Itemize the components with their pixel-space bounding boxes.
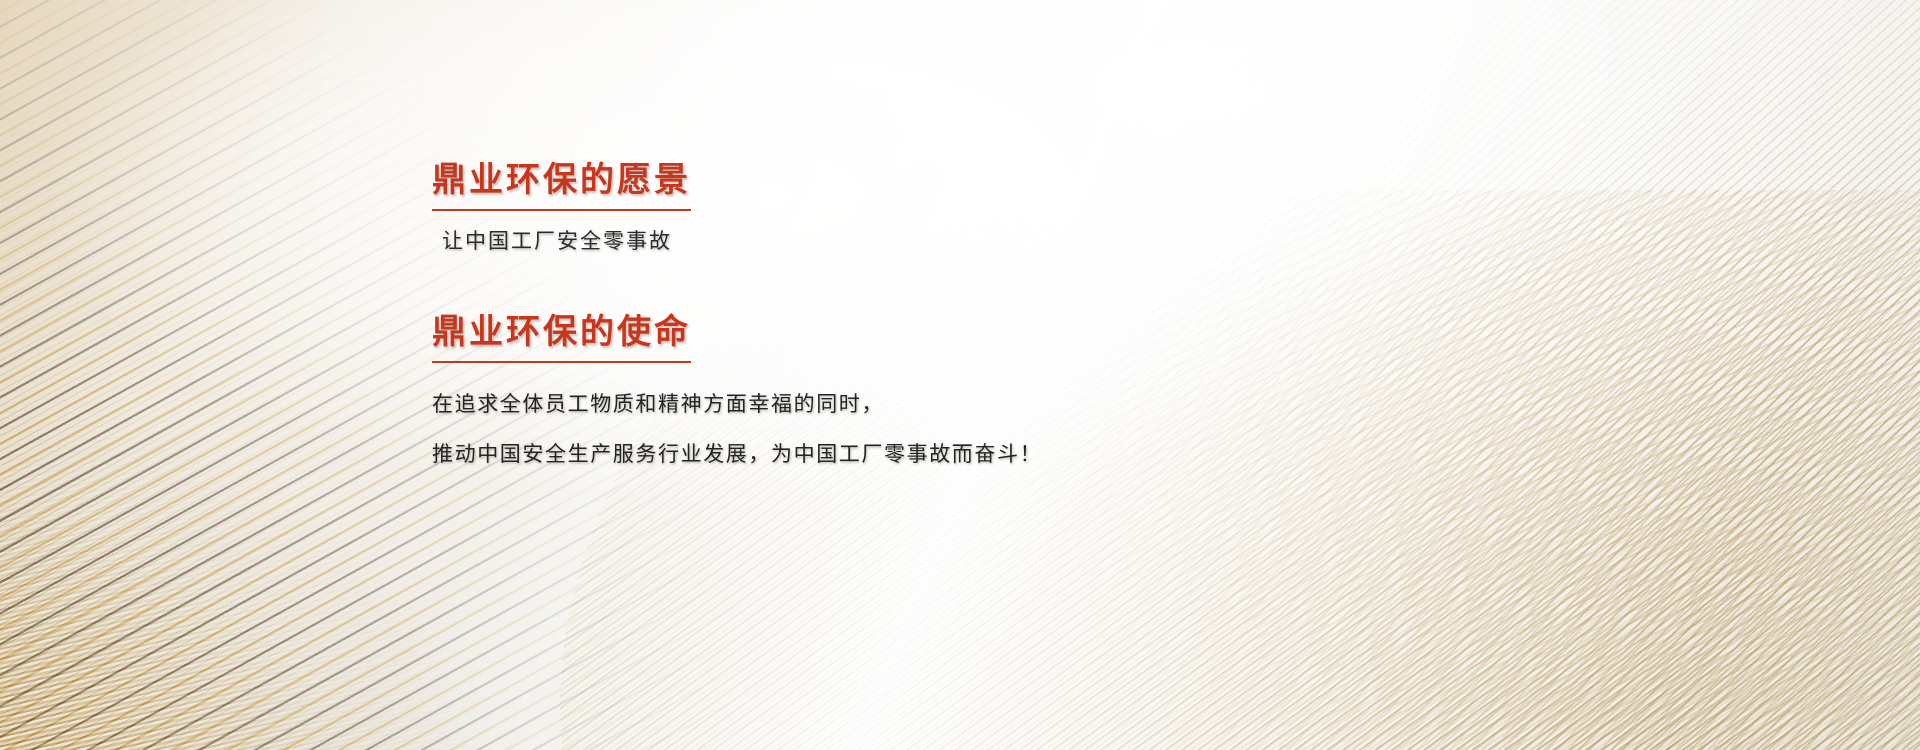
mission-line-1: 在追求全体员工物质和精神方面幸福的同时，: [432, 389, 1432, 422]
vision-mission-banner: 鼎业环保的愿景 让中国工厂安全零事故 鼎业环保的使命 在追求全体员工物质和精神方…: [0, 0, 1920, 750]
mission-line-2: 推动中国安全生产服务行业发展，为中国工厂零事故而奋斗！: [432, 439, 1432, 472]
vision-heading: 鼎业环保的愿景: [432, 160, 691, 211]
mission-heading: 鼎业环保的使命: [432, 312, 691, 363]
mission-block: 鼎业环保的使命 在追求全体员工物质和精神方面幸福的同时， 推动中国安全生产服务行…: [432, 312, 1432, 472]
banner-text-content: 鼎业环保的愿景 让中国工厂安全零事故 鼎业环保的使命 在追求全体员工物质和精神方…: [432, 160, 1432, 472]
vision-subtitle: 让中国工厂安全零事故: [442, 226, 1432, 258]
vision-block: 鼎业环保的愿景 让中国工厂安全零事故: [432, 160, 1432, 258]
